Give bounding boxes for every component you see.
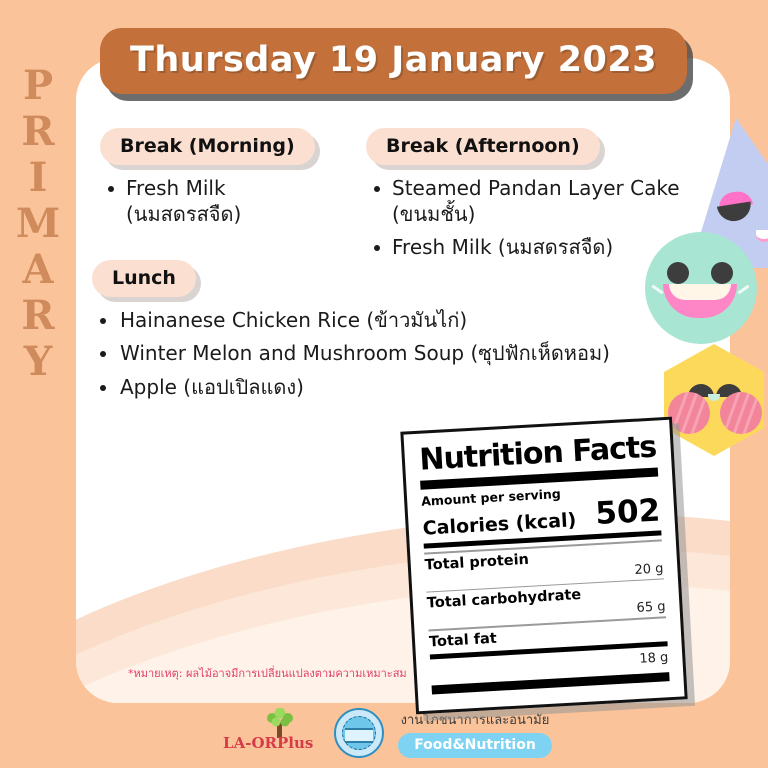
la-or-plus-wordmark: LA-ORPlus [216,734,320,752]
organization-seal-icon [334,708,384,758]
menu-item-en: Winter Melon and Mushroom Soup [120,341,464,365]
menu-item-en: Fresh Milk [392,235,492,259]
primary-letter: R [21,296,54,342]
footer: LA-ORPlus งานโภชนาการและอนามัย Food&Nutr… [0,704,768,762]
footnote: *หมายเหตุ: ผลไม้อาจมีการเปลี่ยนแปลงตามคว… [128,664,407,682]
brand-main: LA-OR [223,734,277,752]
primary-letter: I [29,158,48,204]
menu-item-en: Apple [120,375,177,399]
sidebar-primary: P R I M A R Y [0,0,76,768]
menu-item: Apple (แอปเปิลแดง) [92,374,712,400]
menu-item: Steamed Pandan Layer Cake (ขนมชั้น) [366,175,706,228]
calories-value: 502 [595,495,661,530]
menu-item-th: (แอปเปิลแดง) [183,375,304,399]
food-nutrition-badge: Food&Nutrition [398,733,552,758]
menu-item: Hainanese Chicken Rice (ข้าวมันไก่) [92,307,712,333]
menu-item-en: Fresh Milk [126,176,226,200]
menu-item-th: (ข้าวมันไก่) [366,308,467,332]
section-label-break-morning: Break (Morning) [100,128,315,165]
hexagon-character-icon [658,344,768,456]
menu-item-th: (ซุปฟักเห็ดหอม) [470,341,610,365]
primary-letter: P [23,66,53,112]
menu-item-en: Steamed Pandan Layer Cake [392,176,680,200]
hexagon-face [658,344,768,456]
seal-building-icon [345,728,373,743]
menu-list-break-morning: Fresh Milk (นมสดรสจืด) [100,175,365,228]
section-lunch: Lunch Hainanese Chicken Rice (ข้าวมันไก่… [92,260,712,407]
primary-letter: M [16,204,60,250]
section-break-morning: Break (Morning) Fresh Milk (นมสดรสจืด) [100,128,365,234]
menu-item: Winter Melon and Mushroom Soup (ซุปฟักเห… [92,340,712,366]
menu-item-th: (นมสดรสจืด) [498,235,613,259]
menu-item: Fresh Milk (นมสดรสจืด) [100,175,365,228]
menu-item-th: (ขนมชั้น) [392,202,475,226]
section-label-break-afternoon: Break (Afternoon) [366,128,600,165]
menu-list-lunch: Hainanese Chicken Rice (ข้าวมันไก่) Wint… [92,307,712,400]
brand-plus: Plus [277,734,313,752]
primary-vertical-label: P R I M A R Y [16,66,60,388]
poster-canvas: Break (Morning) Fresh Milk (นมสดรสจืด) B… [0,0,768,768]
menu-item-th: (นมสดรสจืด) [126,202,241,226]
page-title: Thursday 19 January 2023 [100,28,687,94]
primary-letter: R [21,112,54,158]
circle-character-icon [645,232,757,344]
la-or-plus-logo: LA-ORPlus [216,708,320,758]
primary-letter: Y [24,342,53,388]
footer-text-group: งานโภชนาการและอนามัย Food&Nutrition [398,709,552,758]
primary-letter: A [22,250,53,296]
circle-face [645,232,757,344]
section-label-lunch: Lunch [92,260,196,297]
nutrition-facts-panel: Nutrition Facts Amount per serving Calor… [400,417,687,714]
menu-item-en: Hainanese Chicken Rice [120,308,360,332]
